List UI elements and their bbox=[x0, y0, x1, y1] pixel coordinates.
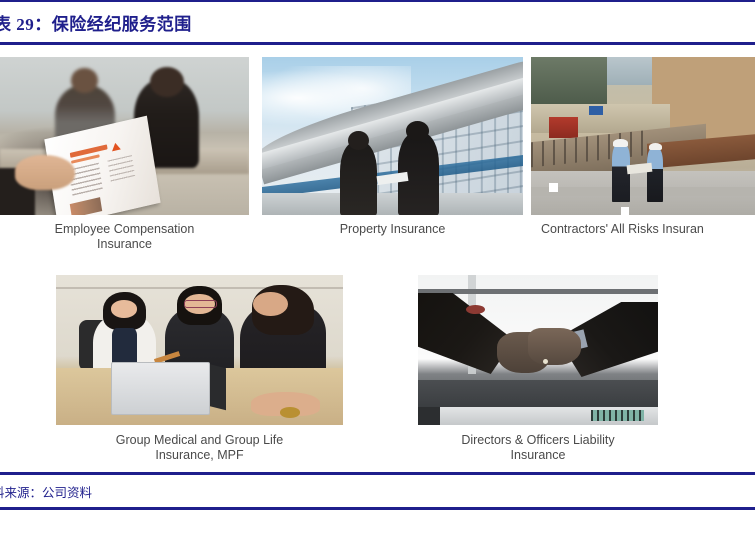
face-shape-left bbox=[111, 300, 138, 317]
person-left-shape bbox=[340, 142, 377, 215]
wristwatch-shape bbox=[280, 407, 300, 418]
figure-image-employee-compensation bbox=[0, 57, 249, 215]
keyboard-shape bbox=[591, 410, 644, 421]
inner-top-shape-left bbox=[112, 328, 137, 364]
page-title: 表 29：保险经纪服务范围 bbox=[0, 2, 755, 42]
dark-edge-shape bbox=[418, 407, 440, 425]
counter-shape bbox=[418, 380, 658, 407]
eyeglasses-icon bbox=[184, 300, 216, 307]
brochure-headline bbox=[70, 144, 107, 157]
red-container-shape bbox=[549, 117, 578, 138]
sky-gap-shape bbox=[607, 57, 656, 85]
ring-shape bbox=[543, 359, 548, 364]
figure-caption-directors-officers: Directors & Officers Liability Insurance bbox=[418, 433, 658, 463]
brochure-photo bbox=[69, 197, 102, 215]
laptop-screen-shape bbox=[111, 362, 211, 415]
footer-bottom-rule bbox=[0, 507, 755, 510]
figure-image-group-medical bbox=[56, 275, 343, 425]
figure-caption-group-medical: Group Medical and Group Life Insurance, … bbox=[56, 433, 343, 463]
figure-body: Employee Compensation Insurance Property… bbox=[0, 52, 755, 472]
source-note: 料来源：公司资料 bbox=[0, 475, 755, 507]
header-bottom-rule bbox=[0, 42, 755, 45]
concrete-step-shape bbox=[531, 187, 755, 196]
figure-caption-property-insurance: Property Insurance bbox=[262, 222, 523, 237]
blind-rail-shape bbox=[418, 289, 658, 294]
figure-image-directors-officers bbox=[418, 275, 658, 425]
glass-building-illustration bbox=[262, 57, 523, 215]
blue-drum-shape bbox=[589, 106, 602, 115]
white-marker-2 bbox=[621, 207, 629, 215]
team-meeting-illustration bbox=[56, 275, 343, 425]
pavement-shape bbox=[262, 193, 523, 215]
construction-site-illustration bbox=[531, 57, 755, 215]
trailing-text bbox=[0, 522, 755, 534]
worker-right-shape bbox=[647, 149, 663, 203]
figure-caption-employee-compensation: Employee Compensation Insurance bbox=[0, 222, 249, 252]
brochure-text-right bbox=[107, 155, 135, 183]
existing-building-shape bbox=[531, 57, 607, 104]
hand-shape bbox=[15, 155, 75, 190]
figure-image-property-insurance bbox=[262, 57, 523, 215]
right-hand-shape bbox=[528, 328, 581, 366]
figure-caption-contractors-all-risks: Contractors' All Risks Insuran bbox=[531, 222, 755, 237]
face-shape-right bbox=[253, 292, 287, 316]
figure-image-contractors-all-risks bbox=[531, 57, 755, 215]
fingertips-shape bbox=[466, 305, 485, 314]
exhibit-footer: 料来源：公司资料 bbox=[0, 472, 755, 510]
brochure-logo-icon bbox=[110, 141, 120, 151]
exhibit-header: 表 29：保险经纪服务范围 bbox=[0, 0, 755, 45]
white-marker-1 bbox=[549, 183, 558, 192]
office-meeting-illustration bbox=[0, 57, 249, 215]
handshake-illustration bbox=[418, 275, 658, 425]
